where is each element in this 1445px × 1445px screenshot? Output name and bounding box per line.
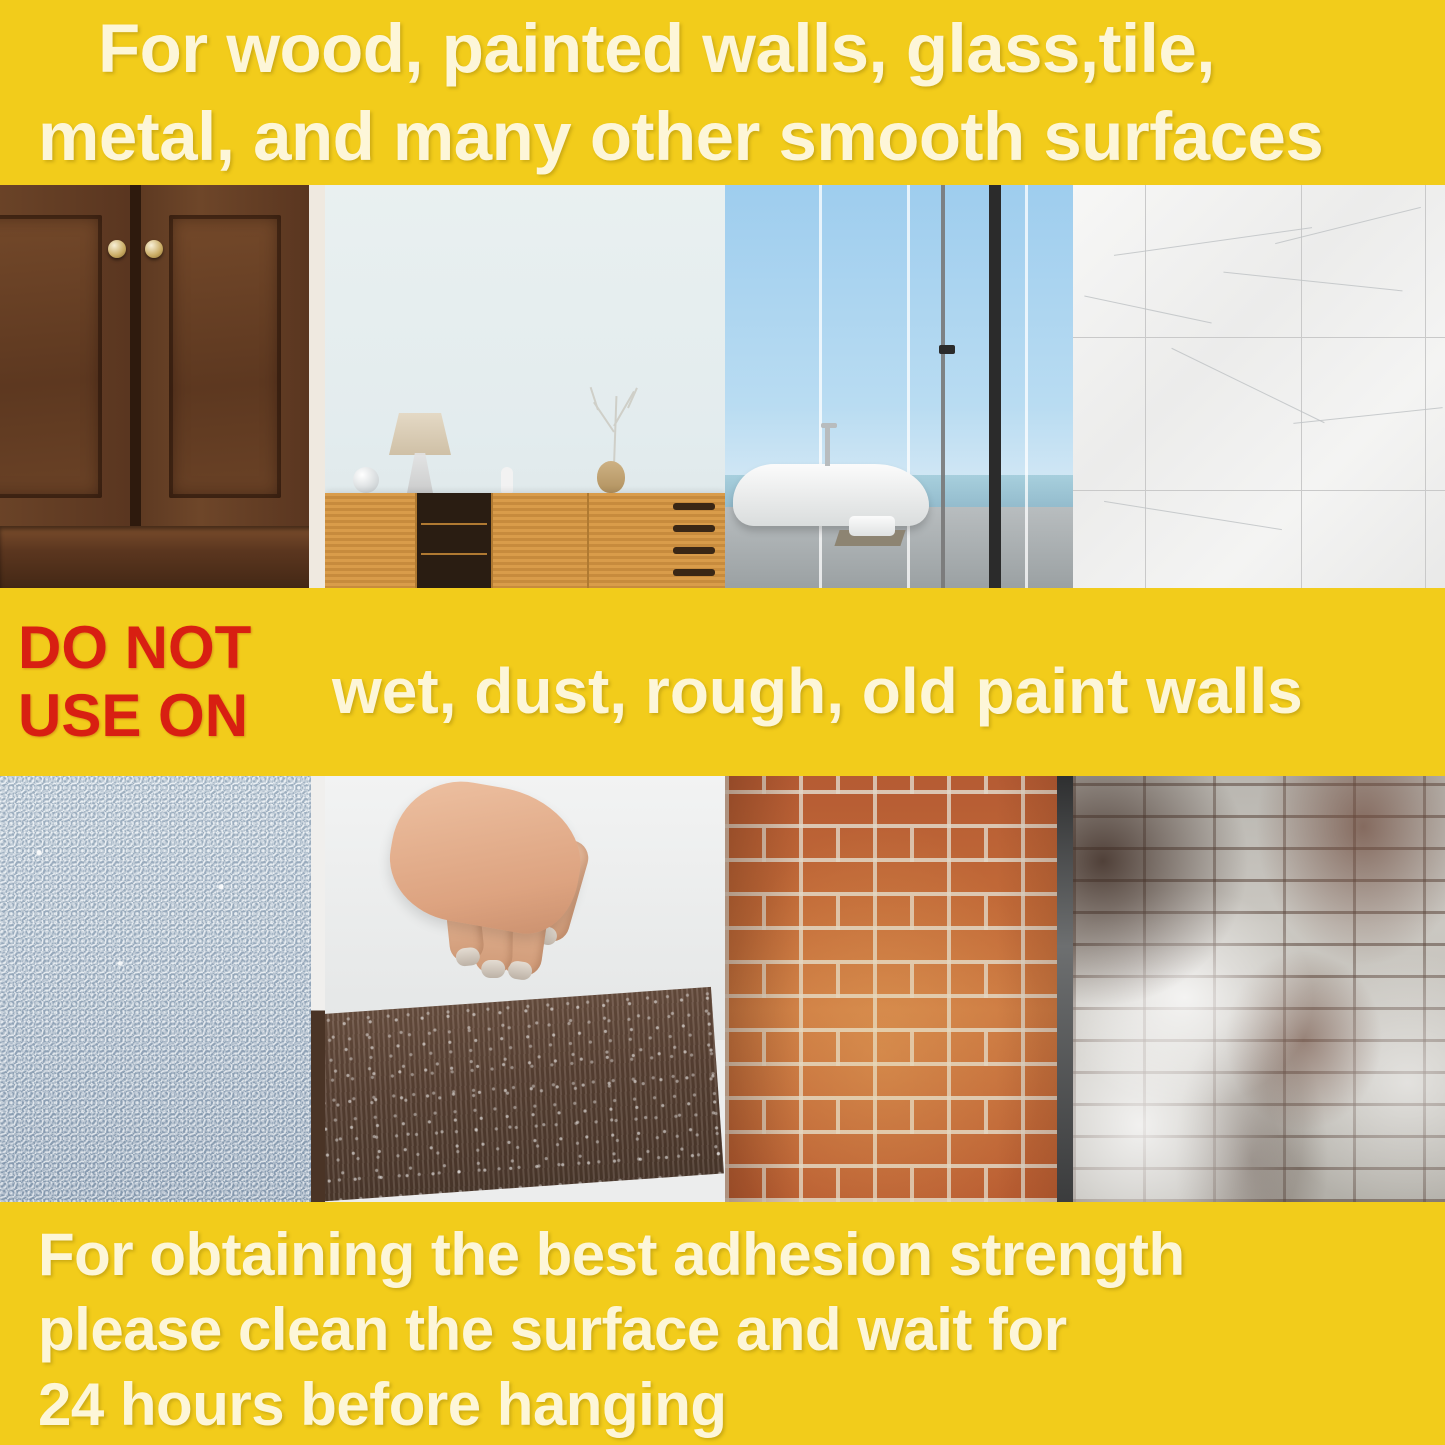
wet-surface-photo [0,776,325,1202]
top-caption-line-1: For wood, painted walls, glass,tile, [98,5,1445,93]
instructions-banner: For obtaining the best adhesion strength… [0,1202,1445,1445]
top-caption-line-2: metal, and many other smooth surfaces [38,93,1445,181]
glass-bathroom-photo [725,185,1073,588]
old-paint-photo [1073,776,1445,1202]
do-not-use-line-1: DO NOT [18,614,318,682]
rough-brick-photo [725,776,1073,1202]
instructions-line-2: please clean the surface and wait for [38,1292,1445,1367]
do-not-use-line-2: USE ON [18,682,318,750]
dusty-surface-photo [325,776,725,1202]
do-not-use-banner: DO NOT USE ON wet, dust, rough, old pain… [0,588,1445,776]
forbidden-surfaces-row [0,776,1445,1202]
do-not-use-label: DO NOT USE ON [18,614,318,750]
painted-wall-photo [325,185,725,588]
forbidden-surfaces-text: wet, dust, rough, old paint walls [332,656,1303,726]
top-caption-banner: For wood, painted walls, glass,tile, met… [0,0,1445,185]
instructions-line-1: For obtaining the best adhesion strength [38,1217,1445,1292]
infographic-page: For wood, painted walls, glass,tile, met… [0,0,1445,1445]
marble-tile-photo [1073,185,1445,588]
wood-cabinet-photo [0,185,325,588]
approved-surfaces-row [0,185,1445,588]
instructions-line-3: 24 hours before hanging [38,1367,1445,1442]
